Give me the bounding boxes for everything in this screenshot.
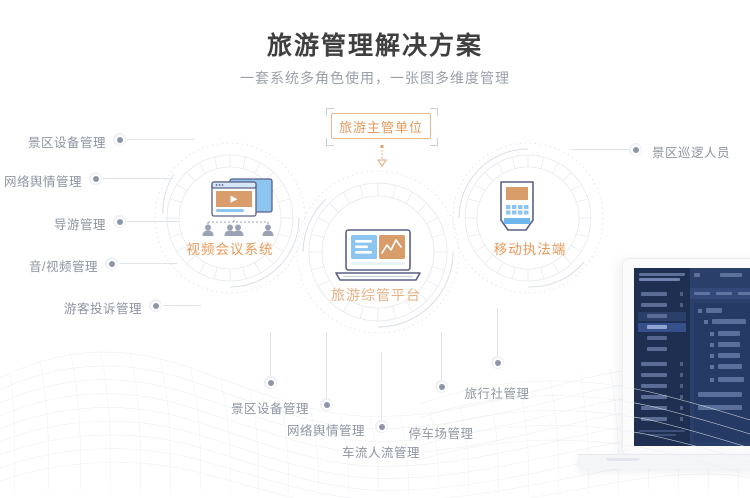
dashboard-menu-item[interactable]: [638, 360, 686, 369]
bottom-label-3[interactable]: 车流人流管理: [301, 442, 461, 461]
dashboard-menu-item[interactable]: [638, 404, 686, 413]
dashboard-menu-item[interactable]: [638, 312, 686, 321]
connector-bottom-4: [441, 332, 442, 380]
dashboard-menu-item[interactable]: [638, 382, 686, 391]
connector-bottom-3: [381, 352, 382, 420]
side-label-right-1[interactable]: 景区巡逻人员: [652, 142, 730, 161]
connector-dot-left-3: [113, 215, 126, 228]
dashboard-screen: [634, 268, 750, 446]
dashboard-menu-item[interactable]: [638, 371, 686, 380]
dashboard-menu-item[interactable]: [638, 290, 686, 299]
node-label-video: 视频会议系统: [166, 238, 294, 258]
connector-bottom-2: [326, 332, 327, 398]
connector-right-1: [571, 149, 629, 150]
connector-dot-bottom-1: [264, 376, 277, 389]
connector-left-4: [119, 263, 177, 264]
side-label-left-1[interactable]: 景区设备管理: [0, 132, 106, 151]
page-title: 旅游管理解决方案: [0, 26, 750, 62]
badge-corner-bottom-left: [326, 138, 334, 146]
dashboard-sidebar: [634, 268, 690, 446]
badge-corner-top-left: [326, 108, 334, 116]
dashboard-logo: [639, 273, 685, 285]
authority-badge[interactable]: 旅游主管单位: [331, 113, 433, 141]
badge-corner-bottom-right: [430, 138, 438, 146]
node-label-center: 旅游综管平台: [296, 285, 456, 305]
page-subtitle: 一套系统多角色使用，一张图多维度管理: [0, 68, 750, 88]
dashboard-content: [690, 299, 750, 446]
dashboard-tabbar[interactable]: [690, 288, 750, 299]
dashboard-tree-panel: [694, 303, 750, 442]
connector-dot-left-1: [113, 133, 126, 146]
dashboard-menu-item[interactable]: [638, 415, 686, 424]
laptop-notch: [606, 458, 640, 461]
laptop-base: [578, 454, 750, 469]
video-conference-icon: [196, 176, 288, 238]
node-label-mobile: 移动执法端: [466, 238, 594, 258]
dashboard-menu-item[interactable]: [638, 345, 686, 354]
connector-left-3: [127, 221, 179, 222]
connector-left-5: [163, 305, 201, 306]
authority-badge-label: 旅游主管单位: [331, 113, 431, 139]
dashboard-menu-item[interactable]: [638, 393, 686, 402]
side-label-left-3[interactable]: 导游管理: [0, 214, 106, 233]
dashboard-menu-item[interactable]: [638, 334, 686, 343]
side-label-left-5[interactable]: 游客投诉管理: [0, 298, 142, 317]
connector-dot-left-4: [105, 257, 118, 270]
dashboard-sidebar-footer: [639, 430, 685, 438]
connector-left-2: [103, 178, 173, 179]
mobile-terminal-icon: [494, 180, 540, 236]
bottom-label-4[interactable]: 停车场管理: [361, 423, 521, 442]
side-label-left-2[interactable]: 网络舆情管理: [0, 171, 82, 190]
connector-dot-left-2: [89, 172, 102, 185]
dotted-down-arrow-icon: [375, 145, 389, 167]
laptop-dashboard-icon: [330, 228, 426, 284]
side-label-left-4[interactable]: 音/视频管理: [0, 256, 98, 275]
laptop-dashboard-mockup: [622, 258, 750, 470]
solution-diagram-page: 旅游管理解决方案 一套系统多角色使用，一张图多维度管理 旅游主管单位: [0, 0, 750, 498]
connector-bottom-1: [270, 332, 271, 376]
connector-left-1: [127, 139, 195, 140]
connector-dot-right-1: [629, 143, 642, 156]
connector-dot-left-5: [149, 299, 162, 312]
connector-dot-bottom-5: [491, 356, 504, 369]
dashboard-menu-item-active[interactable]: [638, 323, 686, 332]
badge-corner-top-right: [430, 108, 438, 116]
bottom-label-5[interactable]: 旅行社管理: [417, 383, 577, 402]
connector-dot-bottom-2: [320, 398, 333, 411]
connector-bottom-5: [497, 308, 498, 356]
dashboard-menu-item[interactable]: [638, 301, 686, 310]
dashboard-topbar: [690, 268, 750, 288]
